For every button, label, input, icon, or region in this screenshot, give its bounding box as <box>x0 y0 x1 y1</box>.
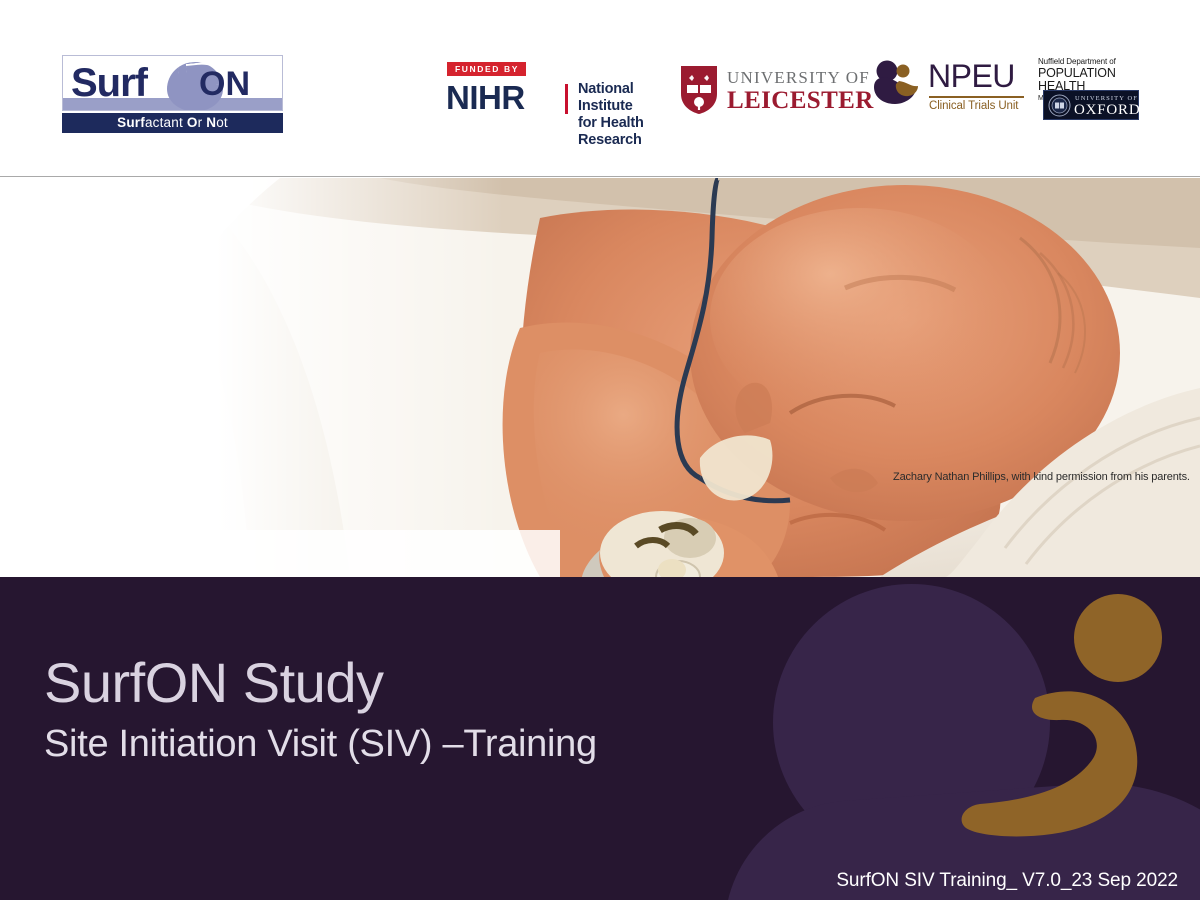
nihr-subtitle-line-2: for Health Research <box>578 115 659 149</box>
surfon-tagline-part-ot: ot <box>216 115 228 130</box>
npeu-logo: NPEU Clinical Trials Unit <box>872 58 1024 120</box>
photo-credit-caption: Zachary Nathan Phillips, with kind permi… <box>893 471 1190 483</box>
npeu-motif-body-icon <box>960 688 1175 838</box>
npeu-subtitle: Clinical Trials Unit <box>929 99 1018 114</box>
surfon-tagline-part-r: r <box>198 115 203 130</box>
oxford-name-label: OXFORD <box>1074 102 1140 119</box>
slide-footer-version: SurfON SIV Training_ V7.0_23 Sep 2022 <box>836 870 1178 892</box>
surfon-logo-wordmark-box: Surf ON <box>62 55 283 111</box>
leicester-wordmark: UNIVERSITY OF LEICESTER <box>727 68 874 114</box>
title-block: SurfON Study Site Initiation Visit (SIV)… <box>44 650 597 770</box>
surfon-tagline-part-actant: actant <box>145 115 183 130</box>
nihr-logo: FUNDED BY NIHR National Institute for He… <box>447 62 659 117</box>
nihr-divider-icon <box>565 84 568 114</box>
leicester-university-of-label: UNIVERSITY OF <box>727 68 874 87</box>
surfon-tagline-part-surf: Surf <box>117 115 145 130</box>
university-of-leicester-logo: UNIVERSITY OF LEICESTER <box>679 64 849 120</box>
npeu-acronym: NPEU <box>928 58 1015 94</box>
surfon-tagline-part-o: O <box>187 115 198 130</box>
baby-photograph-illustration <box>0 178 1200 577</box>
surfon-wordmark-surf: Surf <box>71 59 147 107</box>
page-subtitle: Site Initiation Visit (SIV) –Training <box>44 718 597 770</box>
sponsor-logo-strip: Surf ON Surfactant Or Not FUNDED BY NIHR… <box>0 0 1200 177</box>
page-title: SurfON Study <box>44 650 597 716</box>
surfon-wordmark-on: ON <box>199 63 250 105</box>
surfon-tagline-part-n: N <box>206 115 216 130</box>
title-slide: Surf ON Surfactant Or Not FUNDED BY NIHR… <box>0 0 1200 900</box>
nihr-acronym: NIHR <box>446 79 525 117</box>
nihr-subtitle-line-1: National Institute <box>578 81 659 115</box>
surfon-logo: Surf ON Surfactant Or Not <box>62 55 283 133</box>
hero-photo: Zachary Nathan Phillips, with kind permi… <box>0 178 1200 577</box>
oxford-logo-box: UNIVERSITY OF OXFORD <box>1043 90 1139 120</box>
nihr-subtitle: National Institute for Health Research <box>578 81 659 149</box>
leicester-shield-icon <box>679 64 719 116</box>
oxford-population-health-logo: Nuffield Department of POPULATION HEALTH… <box>1038 57 1144 120</box>
nihr-funded-by-label: FUNDED BY <box>447 62 526 76</box>
npeu-rule-divider <box>929 96 1024 98</box>
leicester-name-label: LEICESTER <box>727 87 874 114</box>
oxford-crest-icon <box>1048 94 1071 117</box>
npeu-person-icon <box>872 60 922 106</box>
surfon-tagline-bar: Surfactant Or Not <box>62 113 283 133</box>
npeu-motif-head-icon <box>1074 594 1162 682</box>
